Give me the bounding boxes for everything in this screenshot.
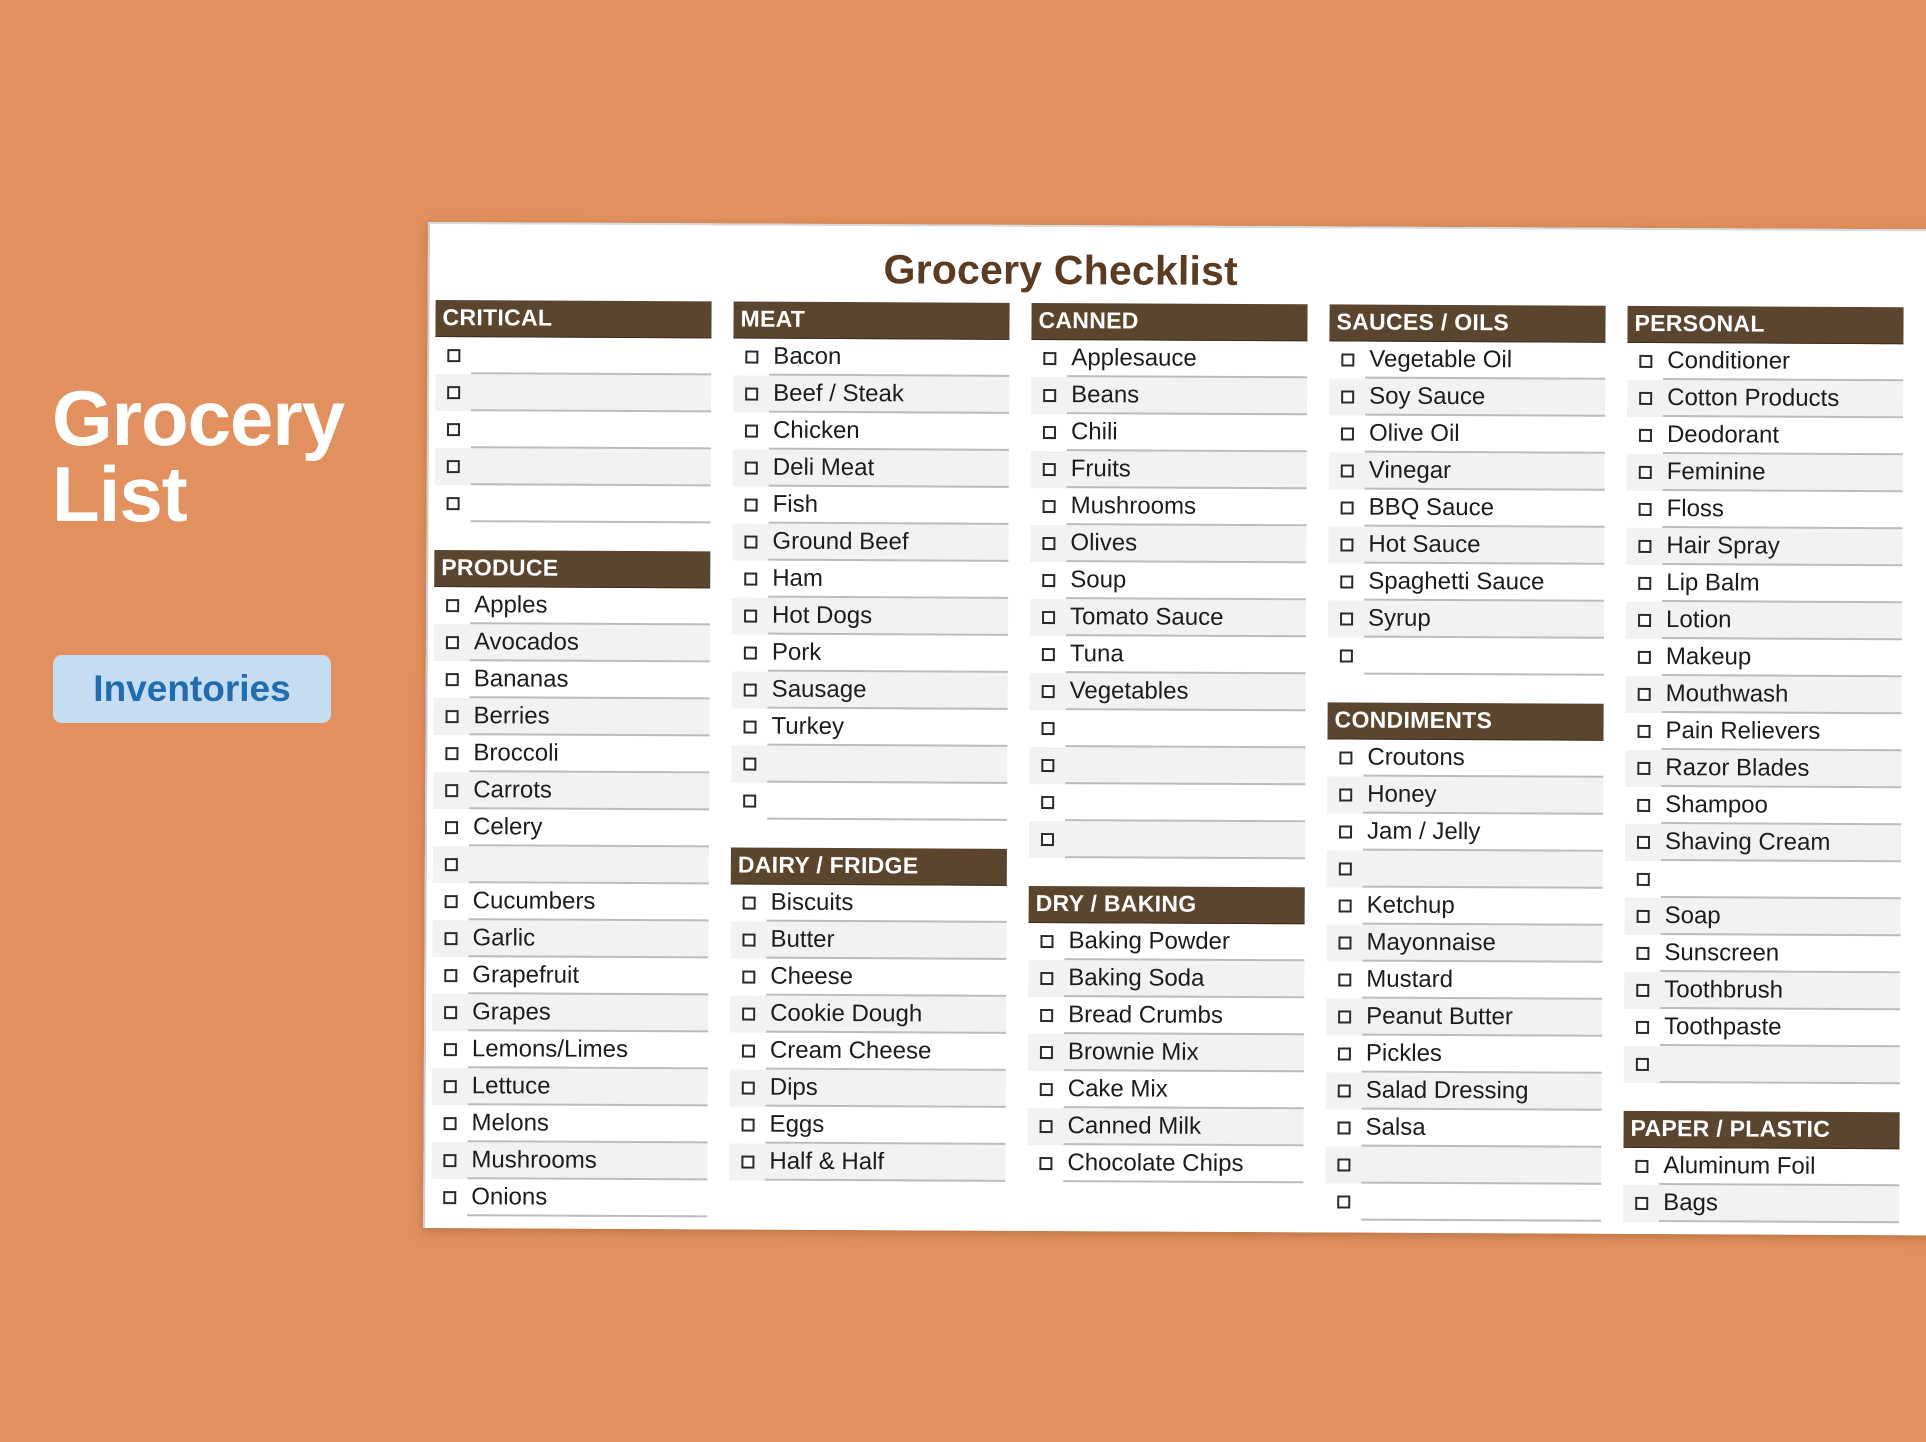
checklist-row[interactable]: Chicken: [733, 412, 1009, 450]
checkbox-icon[interactable]: [1338, 825, 1351, 838]
checkbox-cell[interactable]: [1030, 525, 1066, 562]
checkbox-cell[interactable]: [435, 337, 471, 374]
checklist-item-label[interactable]: Onions: [467, 1179, 707, 1217]
checklist-item-label[interactable]: Dips: [766, 1070, 1006, 1108]
checklist-row[interactable]: Conditioner: [1627, 343, 1903, 381]
checklist-item-label[interactable]: Bags: [1659, 1185, 1899, 1223]
checklist-item-label[interactable]: Salad Dressing: [1362, 1073, 1602, 1111]
checkbox-icon[interactable]: [744, 536, 757, 549]
checkbox-icon[interactable]: [741, 1082, 754, 1095]
checklist-row[interactable]: Butter: [730, 921, 1006, 959]
checklist-row[interactable]: Bananas: [434, 661, 710, 699]
checkbox-cell[interactable]: [729, 1143, 765, 1180]
checkbox-cell[interactable]: [433, 735, 469, 772]
checkbox-icon[interactable]: [741, 1156, 754, 1169]
checkbox-icon[interactable]: [446, 423, 459, 436]
checklist-row[interactable]: Vegetable Oil: [1329, 341, 1605, 379]
checkbox-icon[interactable]: [1638, 503, 1651, 516]
checkbox-icon[interactable]: [444, 895, 457, 908]
checkbox-icon[interactable]: [741, 1045, 754, 1058]
checklist-item-label[interactable]: Grapes: [468, 994, 708, 1032]
checklist-item-label[interactable]: Shampoo: [1661, 787, 1901, 825]
checklist-row[interactable]: Lotion: [1626, 602, 1902, 640]
checkbox-cell[interactable]: [1031, 414, 1067, 451]
checklist-item-label[interactable]: Salsa: [1361, 1110, 1601, 1148]
checklist-item-label[interactable]: Soap: [1661, 898, 1901, 936]
checklist-item-label[interactable]: Tomato Sauce: [1066, 599, 1306, 637]
checklist-row[interactable]: Celery: [433, 809, 709, 847]
checklist-row[interactable]: Eggs: [730, 1106, 1006, 1144]
checklist-row[interactable]: Half & Half: [729, 1143, 1005, 1181]
checklist-item-label[interactable]: Mayonnaise: [1362, 925, 1602, 963]
checklist-row[interactable]: Soup: [1030, 562, 1306, 600]
checkbox-icon[interactable]: [443, 1154, 456, 1167]
checklist-item-label[interactable]: Cream Cheese: [766, 1033, 1006, 1071]
checklist-item-label[interactable]: Butter: [766, 922, 1006, 960]
checkbox-icon[interactable]: [1339, 751, 1352, 764]
checklist-item-label[interactable]: Cookie Dough: [766, 996, 1006, 1034]
checklist-row[interactable]: Ham: [732, 560, 1008, 598]
checklist-row[interactable]: Biscuits: [731, 884, 1007, 922]
checkbox-cell[interactable]: [1328, 600, 1364, 637]
checkbox-cell[interactable]: [731, 708, 767, 745]
checkbox-cell[interactable]: [1627, 417, 1663, 454]
checkbox-icon[interactable]: [1638, 614, 1651, 627]
checklist-row[interactable]: Mayonnaise: [1326, 924, 1602, 962]
checkbox-icon[interactable]: [1041, 796, 1054, 809]
checkbox-icon[interactable]: [447, 386, 460, 399]
checkbox-icon[interactable]: [1043, 389, 1056, 402]
checkbox-icon[interactable]: [1639, 392, 1652, 405]
checklist-item-label[interactable]: Croutons: [1363, 740, 1603, 778]
checkbox-icon[interactable]: [1339, 649, 1352, 662]
checklist-row[interactable]: Beans: [1031, 377, 1307, 415]
checklist-item-label[interactable]: Ketchup: [1363, 888, 1603, 926]
checkbox-cell[interactable]: [733, 338, 769, 375]
checklist-item-label[interactable]: Canned Milk: [1063, 1108, 1303, 1146]
checklist-row[interactable]: [731, 745, 1007, 783]
checklist-item-label[interactable]: Cake Mix: [1064, 1071, 1304, 1109]
checklist-row[interactable]: Chili: [1031, 414, 1307, 452]
checkbox-icon[interactable]: [743, 647, 756, 660]
checkbox-cell[interactable]: [432, 1105, 468, 1142]
checklist-item-label[interactable]: Olive Oil: [1365, 416, 1605, 454]
checkbox-cell[interactable]: [433, 846, 469, 883]
checklist-row[interactable]: [1328, 637, 1604, 675]
checklist-row[interactable]: Mushrooms: [1031, 488, 1307, 526]
checklist-item-label[interactable]: Vegetables: [1066, 673, 1306, 711]
checkbox-icon[interactable]: [1043, 352, 1056, 365]
checklist-row[interactable]: Cucumbers: [433, 883, 709, 921]
checklist-row[interactable]: Soy Sauce: [1329, 378, 1605, 416]
checkbox-cell[interactable]: [432, 1031, 468, 1068]
checklist-row[interactable]: Ground Beef: [732, 523, 1008, 561]
checklist-row[interactable]: Lettuce: [432, 1068, 708, 1106]
checkbox-icon[interactable]: [1338, 899, 1351, 912]
checkbox-cell[interactable]: [1328, 526, 1364, 563]
checkbox-icon[interactable]: [1637, 651, 1650, 664]
checkbox-icon[interactable]: [1638, 577, 1651, 590]
checklist-row[interactable]: Shampoo: [1625, 787, 1901, 825]
checkbox-icon[interactable]: [1638, 429, 1651, 442]
checklist-row[interactable]: Ketchup: [1327, 887, 1603, 925]
checkbox-icon[interactable]: [446, 599, 459, 612]
checklist-item-label[interactable]: Cheese: [766, 959, 1006, 997]
checklist-row[interactable]: Vinegar: [1329, 452, 1605, 490]
checkbox-cell[interactable]: [1625, 750, 1661, 787]
checklist-row[interactable]: Toothbrush: [1624, 972, 1900, 1010]
checkbox-cell[interactable]: [433, 883, 469, 920]
checkbox-cell[interactable]: [434, 624, 470, 661]
checklist-row[interactable]: Canned Milk: [1027, 1108, 1303, 1146]
checklist-row[interactable]: Lip Balm: [1626, 565, 1902, 603]
checkbox-icon[interactable]: [1041, 648, 1054, 661]
checklist-item-label[interactable]: [471, 337, 711, 375]
checkbox-cell[interactable]: [1627, 491, 1663, 528]
checkbox-icon[interactable]: [1637, 725, 1650, 738]
checkbox-cell[interactable]: [433, 809, 469, 846]
checkbox-cell[interactable]: [1030, 636, 1066, 673]
checkbox-icon[interactable]: [1341, 353, 1354, 366]
checklist-row[interactable]: Brownie Mix: [1028, 1034, 1304, 1072]
checklist-item-label[interactable]: Honey: [1363, 777, 1603, 815]
checklist-row[interactable]: [435, 485, 711, 523]
checkbox-cell[interactable]: [1626, 602, 1662, 639]
checklist-row[interactable]: BBQ Sauce: [1329, 489, 1605, 527]
checkbox-icon[interactable]: [1635, 1058, 1648, 1071]
checklist-row[interactable]: [435, 448, 711, 486]
checkbox-icon[interactable]: [1337, 1084, 1350, 1097]
checkbox-icon[interactable]: [444, 969, 457, 982]
checkbox-icon[interactable]: [444, 858, 457, 871]
checklist-row[interactable]: Mouthwash: [1626, 676, 1902, 714]
checkbox-cell[interactable]: [1624, 935, 1660, 972]
checklist-item-label[interactable]: Floss: [1663, 491, 1903, 529]
checklist-item-label[interactable]: Melons: [468, 1105, 708, 1143]
checkbox-icon[interactable]: [742, 934, 755, 947]
checkbox-icon[interactable]: [742, 1008, 755, 1021]
checkbox-cell[interactable]: [1328, 637, 1364, 674]
checkbox-cell[interactable]: [1626, 639, 1662, 676]
checklist-item-label[interactable]: Hair Spray: [1662, 528, 1902, 566]
checkbox-icon[interactable]: [1039, 1046, 1052, 1059]
checklist-row[interactable]: Shaving Cream: [1625, 824, 1901, 862]
checkbox-cell[interactable]: [431, 1142, 467, 1179]
checkbox-cell[interactable]: [1325, 1146, 1361, 1183]
checkbox-icon[interactable]: [1042, 500, 1055, 513]
checklist-item-label[interactable]: Sausage: [768, 672, 1008, 710]
checkbox-icon[interactable]: [1039, 1120, 1052, 1133]
checkbox-icon[interactable]: [443, 1191, 456, 1204]
checkbox-cell[interactable]: [1329, 378, 1365, 415]
checkbox-icon[interactable]: [1040, 972, 1053, 985]
checkbox-cell[interactable]: [732, 560, 768, 597]
checklist-item-label[interactable]: Soup: [1066, 562, 1306, 600]
checklist-item-label[interactable]: Carrots: [469, 772, 709, 810]
checkbox-cell[interactable]: [1326, 924, 1362, 961]
checklist-row[interactable]: [1029, 784, 1305, 822]
checklist-row[interactable]: [435, 337, 711, 375]
checkbox-cell[interactable]: [1329, 341, 1365, 378]
checklist-item-label[interactable]: Mouthwash: [1662, 676, 1902, 714]
checklist-row[interactable]: Tomato Sauce: [1030, 599, 1306, 637]
checkbox-icon[interactable]: [1635, 1160, 1648, 1173]
checkbox-cell[interactable]: [431, 1179, 467, 1216]
checkbox-icon[interactable]: [1040, 833, 1053, 846]
checkbox-cell[interactable]: [1028, 1071, 1064, 1108]
checklist-row[interactable]: Applesauce: [1031, 340, 1307, 378]
checklist-row[interactable]: Cheese: [730, 958, 1006, 996]
checkbox-cell[interactable]: [1627, 380, 1663, 417]
checkbox-icon[interactable]: [742, 897, 755, 910]
checklist-row[interactable]: Cotton Products: [1627, 380, 1903, 418]
checklist-row[interactable]: Cake Mix: [1028, 1071, 1304, 1109]
checklist-item-label[interactable]: Pain Relievers: [1661, 713, 1901, 751]
checklist-row[interactable]: Baking Soda: [1028, 960, 1304, 998]
checklist-row[interactable]: Grapefruit: [432, 957, 708, 995]
checkbox-icon[interactable]: [446, 497, 459, 510]
checkbox-icon[interactable]: [444, 932, 457, 945]
checkbox-icon[interactable]: [1635, 1197, 1648, 1210]
checkbox-icon[interactable]: [1337, 1195, 1350, 1208]
checkbox-cell[interactable]: [1028, 923, 1064, 960]
checkbox-icon[interactable]: [1636, 873, 1649, 886]
checklist-item-label[interactable]: Olives: [1066, 525, 1306, 563]
checkbox-cell[interactable]: [1028, 997, 1064, 1034]
checklist-item-label[interactable]: Cotton Products: [1663, 380, 1903, 418]
checklist-item-label[interactable]: Eggs: [765, 1107, 1005, 1145]
checkbox-cell[interactable]: [731, 745, 767, 782]
checkbox-cell[interactable]: [731, 782, 767, 819]
checkbox-cell[interactable]: [730, 921, 766, 958]
checklist-item-label[interactable]: Razor Blades: [1661, 750, 1901, 788]
checklist-item-label[interactable]: Shaving Cream: [1661, 824, 1901, 862]
checklist-row[interactable]: Lemons/Limes: [432, 1031, 708, 1069]
checkbox-cell[interactable]: [435, 448, 471, 485]
checkbox-icon[interactable]: [1338, 862, 1351, 875]
checklist-row[interactable]: Hot Dogs: [732, 597, 1008, 635]
checkbox-cell[interactable]: [730, 1032, 766, 1069]
checkbox-icon[interactable]: [443, 1043, 456, 1056]
checkbox-cell[interactable]: [1325, 1109, 1361, 1146]
checkbox-cell[interactable]: [1030, 562, 1066, 599]
checkbox-icon[interactable]: [744, 499, 757, 512]
checklist-item-label[interactable]: [1361, 1184, 1601, 1222]
checklist-item-label[interactable]: [471, 374, 711, 412]
checkbox-icon[interactable]: [1337, 1121, 1350, 1134]
checkbox-cell[interactable]: [1627, 454, 1663, 491]
checkbox-cell[interactable]: [1327, 813, 1363, 850]
checkbox-icon[interactable]: [745, 351, 758, 364]
checklist-item-label[interactable]: Vegetable Oil: [1365, 342, 1605, 380]
checkbox-cell[interactable]: [1625, 824, 1661, 861]
checkbox-cell[interactable]: [732, 671, 768, 708]
checklist-row[interactable]: Tuna: [1030, 636, 1306, 674]
checklist-item-label[interactable]: Chocolate Chips: [1063, 1145, 1303, 1183]
checkbox-icon[interactable]: [1039, 1083, 1052, 1096]
checkbox-icon[interactable]: [743, 795, 756, 808]
checklist-item-label[interactable]: Soy Sauce: [1365, 379, 1605, 417]
checkbox-cell[interactable]: [731, 884, 767, 921]
checkbox-icon[interactable]: [1042, 426, 1055, 439]
checkbox-icon[interactable]: [743, 758, 756, 771]
checklist-item-label[interactable]: Spaghetti Sauce: [1364, 564, 1604, 602]
checklist-item-label[interactable]: Baking Powder: [1064, 923, 1304, 961]
checkbox-icon[interactable]: [1340, 501, 1353, 514]
checklist-row[interactable]: Onions: [431, 1179, 707, 1217]
checklist-row[interactable]: Toothpaste: [1624, 1009, 1900, 1047]
checklist-row[interactable]: Mustard: [1326, 961, 1602, 999]
checklist-item-label[interactable]: [471, 448, 711, 486]
checklist-item-label[interactable]: Lotion: [1662, 602, 1902, 640]
checklist-row[interactable]: Beef / Steak: [733, 375, 1009, 413]
checkbox-icon[interactable]: [444, 1006, 457, 1019]
checkbox-cell[interactable]: [1030, 599, 1066, 636]
checklist-row[interactable]: [1029, 821, 1305, 859]
checklist-row[interactable]: Baking Powder: [1028, 923, 1304, 961]
checkbox-cell[interactable]: [1029, 821, 1065, 858]
checkbox-cell[interactable]: [1626, 565, 1662, 602]
checklist-item-label[interactable]: Celery: [469, 809, 709, 847]
checkbox-cell[interactable]: [1329, 489, 1365, 526]
checklist-item-label[interactable]: [1660, 1046, 1900, 1084]
checkbox-cell[interactable]: [730, 958, 766, 995]
checkbox-icon[interactable]: [1042, 611, 1055, 624]
checklist-row[interactable]: Deli Meat: [733, 449, 1009, 487]
checklist-item-label[interactable]: [471, 411, 711, 449]
checkbox-cell[interactable]: [1028, 960, 1064, 997]
checklist-row[interactable]: Makeup: [1626, 639, 1902, 677]
checkbox-cell[interactable]: [435, 374, 471, 411]
checklist-row[interactable]: [1325, 1183, 1601, 1221]
checklist-row[interactable]: Garlic: [432, 920, 708, 958]
checkbox-cell[interactable]: [1029, 784, 1065, 821]
checklist-item-label[interactable]: Toothpaste: [1660, 1009, 1900, 1047]
checkbox-icon[interactable]: [446, 460, 459, 473]
checkbox-cell[interactable]: [733, 412, 769, 449]
checkbox-icon[interactable]: [1639, 355, 1652, 368]
checkbox-cell[interactable]: [1031, 451, 1067, 488]
checklist-item-label[interactable]: Deli Meat: [769, 450, 1009, 488]
checklist-item-label[interactable]: Beef / Steak: [769, 376, 1009, 414]
checkbox-cell[interactable]: [1627, 343, 1663, 380]
checklist-row[interactable]: Feminine: [1627, 454, 1903, 492]
checkbox-icon[interactable]: [743, 721, 756, 734]
checklist-row[interactable]: Salsa: [1325, 1109, 1601, 1147]
checkbox-cell[interactable]: [1326, 1035, 1362, 1072]
checklist-row[interactable]: Hair Spray: [1626, 528, 1902, 566]
checkbox-icon[interactable]: [443, 1117, 456, 1130]
checklist-item-label[interactable]: Feminine: [1663, 454, 1903, 492]
checklist-item-label[interactable]: Fish: [769, 487, 1009, 525]
checklist-item-label[interactable]: Peanut Butter: [1362, 999, 1602, 1037]
checklist-row[interactable]: Olive Oil: [1329, 415, 1605, 453]
checklist-item-label[interactable]: Hot Sauce: [1364, 527, 1604, 565]
checkbox-icon[interactable]: [443, 1080, 456, 1093]
checklist-item-label[interactable]: Jam / Jelly: [1363, 814, 1603, 852]
checkbox-cell[interactable]: [435, 485, 471, 522]
grocery-checklist-sheet[interactable]: Grocery Checklist CRITICALPRODUCEApplesA…: [423, 222, 1926, 1235]
checkbox-icon[interactable]: [1341, 390, 1354, 403]
checkbox-cell[interactable]: [432, 994, 468, 1031]
checklist-row[interactable]: Jam / Jelly: [1327, 813, 1603, 851]
checklist-row[interactable]: Soap: [1625, 898, 1901, 936]
checkbox-cell[interactable]: [1329, 452, 1365, 489]
checklist-item-label[interactable]: Garlic: [468, 920, 708, 958]
checklist-item-label[interactable]: Hot Dogs: [768, 598, 1008, 636]
checklist-item-label[interactable]: Bananas: [470, 661, 710, 699]
checklist-row[interactable]: Bread Crumbs: [1028, 997, 1304, 1035]
checklist-row[interactable]: Turkey: [731, 708, 1007, 746]
checkbox-cell[interactable]: [1027, 1145, 1063, 1182]
checkbox-cell[interactable]: [1327, 776, 1363, 813]
checklist-row[interactable]: Vegetables: [1030, 673, 1306, 711]
checklist-item-label[interactable]: [1363, 851, 1603, 889]
checklist-row[interactable]: Apples: [434, 587, 710, 625]
checkbox-icon[interactable]: [1338, 1010, 1351, 1023]
checkbox-icon[interactable]: [1340, 427, 1353, 440]
checklist-item-label[interactable]: Bread Crumbs: [1064, 997, 1304, 1035]
checkbox-icon[interactable]: [1337, 1158, 1350, 1171]
checklist-item-label[interactable]: Chili: [1067, 414, 1307, 452]
checklist-row[interactable]: Bags: [1623, 1185, 1899, 1223]
checkbox-icon[interactable]: [744, 462, 757, 475]
checklist-item-label[interactable]: Turkey: [767, 709, 1007, 747]
checkbox-cell[interactable]: [1031, 340, 1067, 377]
checklist-item-label[interactable]: Ground Beef: [768, 524, 1008, 562]
inventories-button[interactable]: Inventories: [53, 655, 331, 723]
checklist-item-label[interactable]: Broccoli: [469, 735, 709, 773]
checklist-item-label[interactable]: Aluminum Foil: [1659, 1148, 1899, 1186]
checklist-row[interactable]: [435, 374, 711, 412]
checkbox-cell[interactable]: [1624, 1009, 1660, 1046]
checklist-item-label[interactable]: Mushrooms: [1067, 488, 1307, 526]
checklist-row[interactable]: Sausage: [732, 671, 1008, 709]
checklist-row[interactable]: [1029, 710, 1305, 748]
checkbox-cell[interactable]: [433, 698, 469, 735]
checkbox-icon[interactable]: [1339, 788, 1352, 801]
checklist-row[interactable]: Honey: [1327, 776, 1603, 814]
checkbox-icon[interactable]: [1637, 799, 1650, 812]
checkbox-icon[interactable]: [1340, 612, 1353, 625]
checklist-row[interactable]: Hot Sauce: [1328, 526, 1604, 564]
checklist-item-label[interactable]: [471, 485, 711, 523]
checkbox-cell[interactable]: [1029, 747, 1065, 784]
checkbox-cell[interactable]: [1029, 710, 1065, 747]
checklist-item-label[interactable]: Lettuce: [468, 1068, 708, 1106]
checklist-item-label[interactable]: [767, 783, 1007, 821]
checkbox-cell[interactable]: [435, 411, 471, 448]
checkbox-icon[interactable]: [1042, 574, 1055, 587]
checkbox-cell[interactable]: [1624, 972, 1660, 1009]
checkbox-icon[interactable]: [1340, 575, 1353, 588]
checkbox-cell[interactable]: [732, 523, 768, 560]
checkbox-cell[interactable]: [432, 920, 468, 957]
checklist-row[interactable]: Mushrooms: [431, 1142, 707, 1180]
checklist-item-label[interactable]: Sunscreen: [1660, 935, 1900, 973]
checkbox-cell[interactable]: [1031, 377, 1067, 414]
checkbox-cell[interactable]: [730, 1069, 766, 1106]
checkbox-cell[interactable]: [1329, 415, 1365, 452]
checkbox-icon[interactable]: [445, 821, 458, 834]
checkbox-icon[interactable]: [1337, 1047, 1350, 1060]
checklist-item-label[interactable]: [1364, 638, 1604, 676]
checkbox-icon[interactable]: [743, 684, 756, 697]
checkbox-cell[interactable]: [1625, 898, 1661, 935]
checkbox-cell[interactable]: [1625, 861, 1661, 898]
checkbox-cell[interactable]: [1325, 1183, 1361, 1220]
checklist-row[interactable]: Fruits: [1031, 451, 1307, 489]
